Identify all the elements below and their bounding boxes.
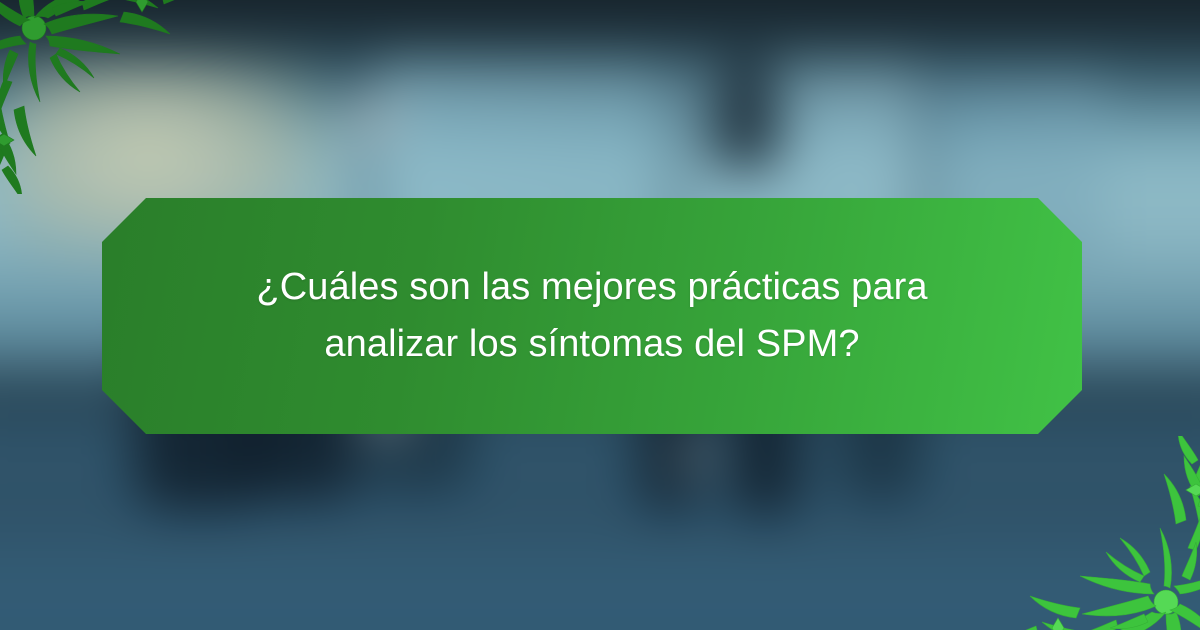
headline-text: ¿Cuáles son las mejores prácticas para a… <box>212 259 972 373</box>
social-card: ¿Cuáles son las mejores prácticas para a… <box>0 0 1200 630</box>
background-figure-silhouette <box>710 60 780 170</box>
headline-line-1: ¿Cuáles son las mejores prácticas para <box>212 259 972 316</box>
background-ceiling-slab <box>0 0 1200 50</box>
background-figure-highlight <box>675 440 715 470</box>
headline-line-2: analizar los síntomas del SPM? <box>212 316 972 373</box>
background-figure-highlight <box>340 90 400 150</box>
headline-banner: ¿Cuáles son las mejores prácticas para a… <box>102 198 1082 434</box>
